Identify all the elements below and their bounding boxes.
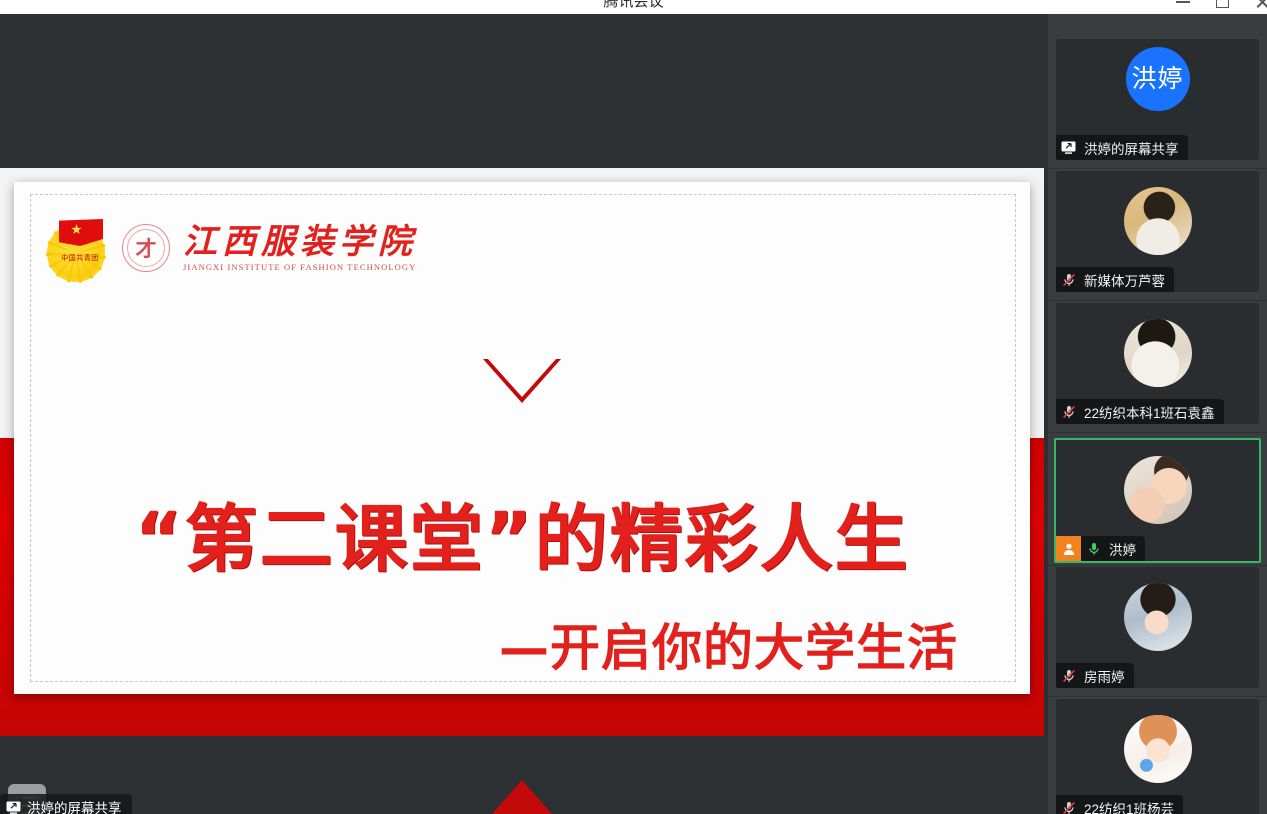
university-seal-icon: 才 <box>122 224 170 272</box>
participant-name: 洪婷 <box>1106 539 1136 559</box>
slide-subline: —开启你的大学生活 <box>0 618 1044 678</box>
participant-tile[interactable]: 房雨婷 <box>1056 567 1259 688</box>
shared-screen-stage[interactable]: 中国共青团 才 江西服装学院 JIANGXI INSTITUTE OF FASH… <box>0 14 1048 814</box>
avatar <box>1124 456 1192 524</box>
participant-tile-screen-share[interactable]: 洪婷 洪婷的屏幕共享 <box>1056 39 1259 160</box>
communist-youth-league-emblem-icon: 中国共青团 <box>47 217 109 279</box>
share-label-bottom: 洪婷的屏幕共享 <box>0 794 132 814</box>
participant-name: 洪婷的屏幕共享 <box>1081 138 1179 158</box>
avatar <box>1124 187 1192 255</box>
avatar <box>1124 583 1192 651</box>
participant-namebar: 房雨婷 <box>1056 663 1134 688</box>
university-wordmark: 江西服装学院 JIANGXI INSTITUTE OF FASHION TECH… <box>183 223 417 273</box>
rail-divider <box>1048 565 1267 566</box>
window-title: 腾讯会议 <box>0 0 1267 13</box>
participant-tile[interactable]: 新媒体万芦蓉 <box>1056 171 1259 292</box>
presentation-slide[interactable]: 中国共青团 才 江西服装学院 JIANGXI INSTITUTE OF FASH… <box>0 168 1044 736</box>
slide-logo-row: 中国共青团 才 江西服装学院 JIANGXI INSTITUTE OF FASH… <box>47 216 417 280</box>
mic-muted-icon <box>1056 267 1081 292</box>
rail-divider <box>1048 168 1267 169</box>
participant-namebar: 洪婷的屏幕共享 <box>1056 135 1188 160</box>
mic-muted-icon <box>1056 663 1081 688</box>
slide-headline: “第二课堂”的精彩人生 <box>0 498 1044 582</box>
participant-tile[interactable]: 22纺织本科1班石袁鑫 <box>1056 303 1259 424</box>
participant-name: 房雨婷 <box>1081 666 1125 686</box>
rail-divider <box>1048 300 1267 301</box>
mic-muted-icon <box>1056 399 1081 424</box>
avatar <box>1124 715 1192 783</box>
participant-namebar: 22纺织本科1班石袁鑫 <box>1056 399 1224 424</box>
rail-divider <box>1048 696 1267 697</box>
avatar <box>1124 319 1192 387</box>
participant-name: 22纺织本科1班石袁鑫 <box>1081 402 1215 422</box>
participant-tile-active-speaker[interactable]: 洪婷 <box>1054 438 1261 563</box>
host-person-icon <box>1056 536 1081 561</box>
triangle-up-icon <box>483 780 561 814</box>
share-label-text: 洪婷的屏幕共享 <box>27 797 122 814</box>
mic-on-icon <box>1081 536 1106 561</box>
participant-rail[interactable]: 洪婷 洪婷的屏幕共享 <box>1048 14 1267 814</box>
participant-namebar: 洪婷 <box>1056 536 1145 561</box>
university-name-en: JIANGXI INSTITUTE OF FASHION TECHNOLOGY <box>183 261 417 273</box>
avatar: 洪婷 <box>1126 47 1190 111</box>
participant-namebar: 22纺织1班杨芸 <box>1056 795 1183 814</box>
triangle-down-icon <box>483 359 561 403</box>
screen-share-icon <box>6 801 21 814</box>
screen-share-icon <box>1056 135 1081 160</box>
mic-muted-icon <box>1056 795 1081 814</box>
emblem-band-text: 中国共青团 <box>59 253 101 265</box>
participant-tile[interactable]: 22纺织1班杨芸 <box>1056 699 1259 814</box>
university-seal-glyph: 才 <box>122 224 170 272</box>
participant-name: 新媒体万芦蓉 <box>1081 270 1165 290</box>
university-name-cn: 江西服装学院 <box>183 223 417 261</box>
participant-name: 22纺织1班杨芸 <box>1081 798 1174 814</box>
rail-divider <box>1048 432 1267 433</box>
close-button[interactable] <box>1239 0 1267 12</box>
window-title-bar: 腾讯会议 <box>0 0 1267 15</box>
participant-namebar: 新媒体万芦蓉 <box>1056 267 1174 292</box>
